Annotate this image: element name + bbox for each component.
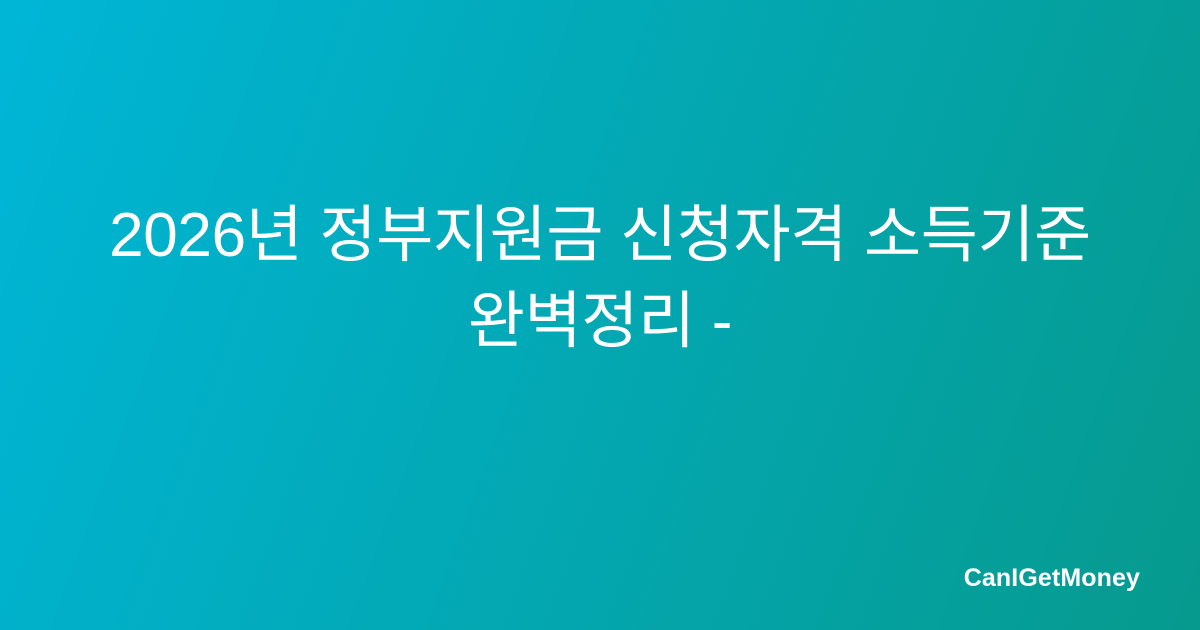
page-title: 2026년 정부지원금 신청자격 소득기준 완벽정리 - [84, 193, 1116, 365]
share-card: 2026년 정부지원금 신청자격 소득기준 완벽정리 - CanIGetMone… [0, 0, 1200, 630]
headline-container: 2026년 정부지원금 신청자격 소득기준 완벽정리 - [0, 0, 1200, 630]
site-brand-label: CanIGetMoney [964, 562, 1140, 594]
